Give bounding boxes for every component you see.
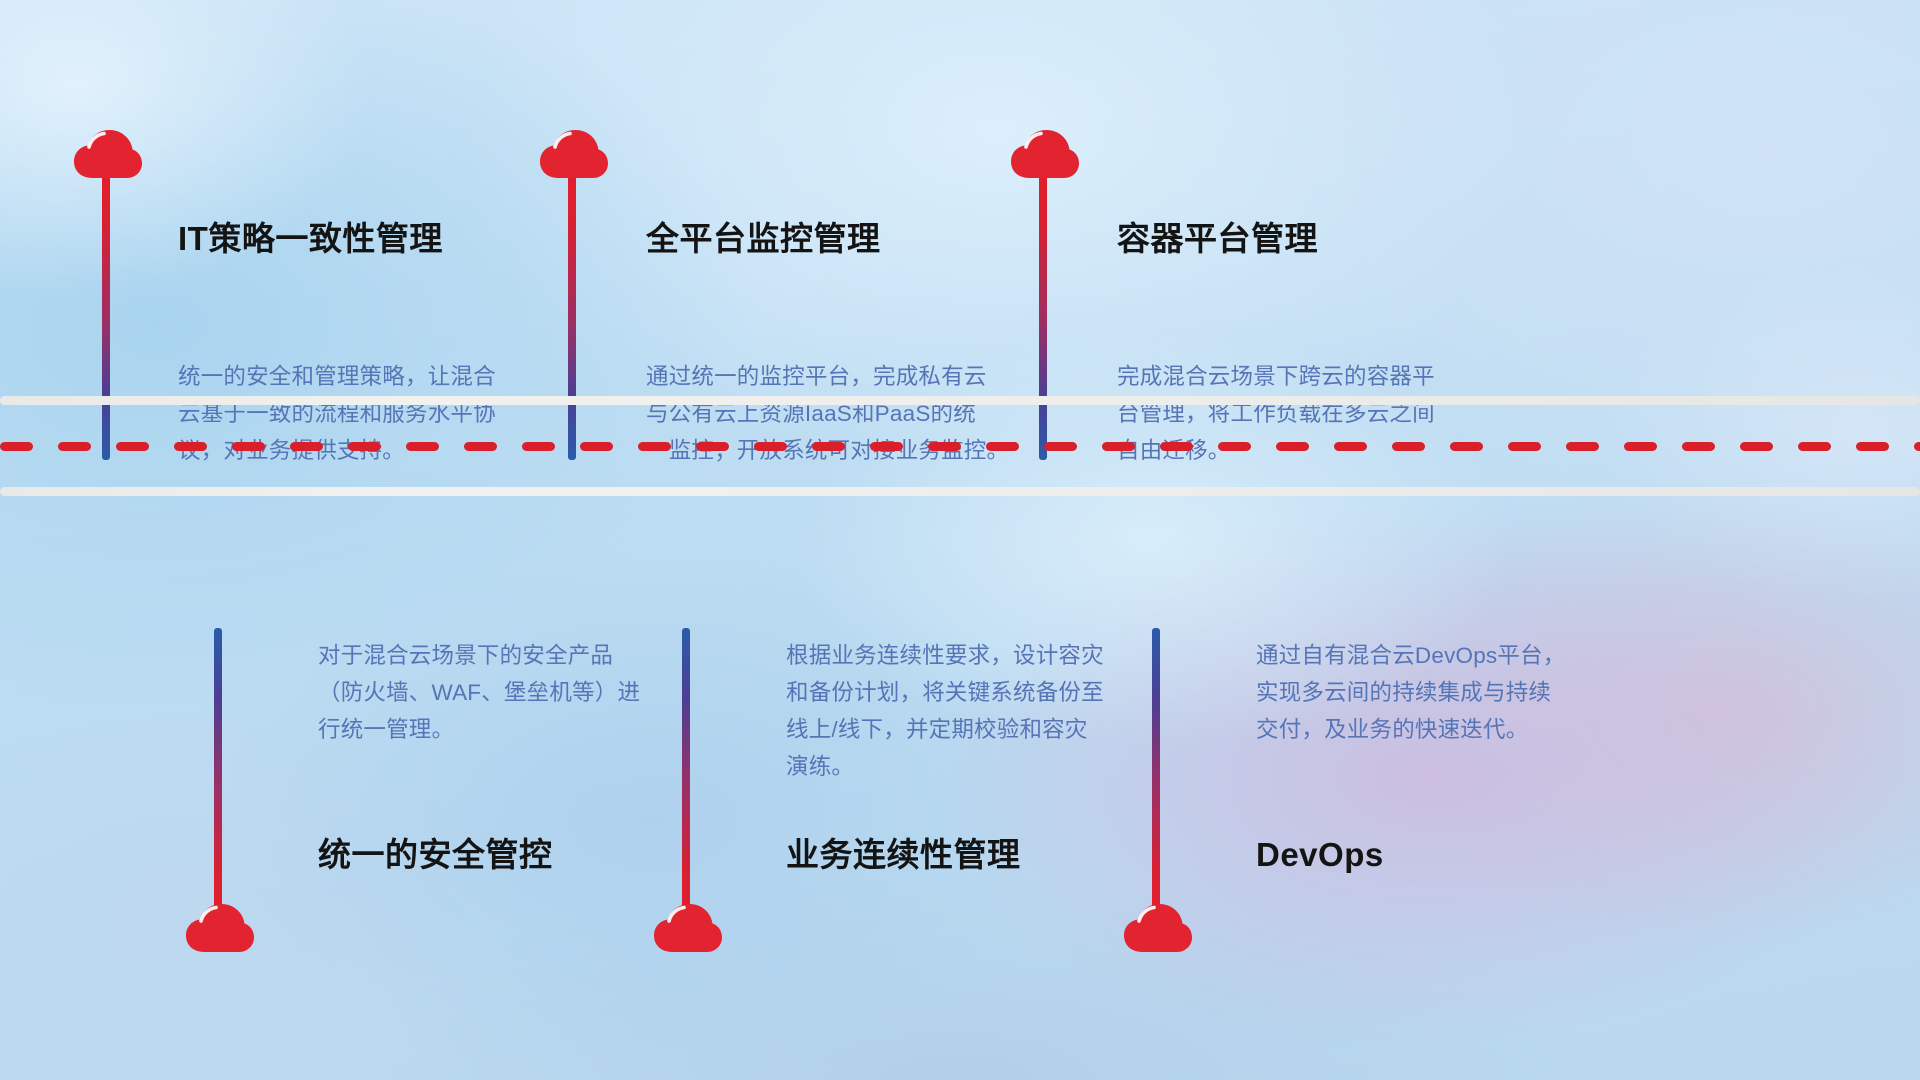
card-title-full-platform-monitoring: 全平台监控管理	[646, 222, 881, 255]
road-dash-segment	[1566, 442, 1599, 451]
card-title-business-continuity-management: 业务连续性管理	[786, 838, 1021, 871]
road-dash-segment	[1624, 442, 1657, 451]
pin-marker-unified-security-control	[212, 628, 284, 958]
road-dash-segment	[116, 442, 149, 451]
road-dash-segment	[1276, 442, 1309, 451]
road-dash-segment	[1740, 442, 1773, 451]
pin-stem	[1152, 628, 1160, 918]
road-dash-segment	[290, 442, 323, 451]
road-dash-segment	[580, 442, 613, 451]
road-divider	[0, 396, 1920, 496]
card-title-unified-security-control: 统一的安全管控	[318, 838, 553, 871]
road-dash-segment	[1798, 442, 1831, 451]
card-title-container-platform-management: 容器平台管理	[1117, 222, 1318, 255]
road-dash-segment	[986, 442, 1019, 451]
pin-marker-business-continuity-management	[680, 628, 752, 958]
road-dash-segment	[638, 442, 671, 451]
infographic-canvas: IT策略一致性管理 统一的安全和管理策略，让混合 云基于一致的流程和服务水平协 …	[0, 0, 1920, 1080]
road-dash-segment	[232, 442, 265, 451]
road-dash-segment	[1508, 442, 1541, 451]
road-dash-segment	[406, 442, 439, 451]
road-dash-segment	[696, 442, 729, 451]
road-dash-segment	[58, 442, 91, 451]
cloud-icon	[184, 902, 256, 954]
card-body-devops: 通过自有混合云DevOps平台， 实现多云间的持续集成与持续 交付，及业务的快速…	[1256, 637, 1696, 748]
road-dash-segment	[1914, 442, 1920, 451]
road-dash-segment	[754, 442, 787, 451]
cloud-icon	[1009, 128, 1081, 180]
road-dash-segment	[1102, 442, 1135, 451]
road-dash-segment	[0, 442, 33, 451]
pin-marker-devops	[1150, 628, 1222, 958]
road-dash-segment	[174, 442, 207, 451]
road-dash-segment	[928, 442, 961, 451]
cloud-icon	[72, 128, 144, 180]
road-dash-segment	[1856, 442, 1889, 451]
road-dash-segment	[812, 442, 845, 451]
cloud-icon	[652, 902, 724, 954]
road-dash-segment	[1160, 442, 1193, 451]
road-edge-top	[0, 396, 1920, 405]
road-dash-segment	[1392, 442, 1425, 451]
pin-stem	[682, 628, 690, 918]
cloud-icon	[538, 128, 610, 180]
card-title-it-policy-consistency: IT策略一致性管理	[178, 222, 443, 255]
road-dash-segment	[870, 442, 903, 451]
road-dash-segment	[1334, 442, 1367, 451]
road-dash-segment	[464, 442, 497, 451]
road-dash-segment	[1218, 442, 1251, 451]
road-dash-segment	[348, 442, 381, 451]
card-title-devops: DevOps	[1256, 838, 1384, 871]
road-dash-segment	[1044, 442, 1077, 451]
background-gradient-highlight	[0, 0, 1920, 1080]
road-dash-segment	[1450, 442, 1483, 451]
cloud-icon	[1122, 902, 1194, 954]
road-dash-segment	[1682, 442, 1715, 451]
road-center-dashed-line	[0, 442, 1920, 451]
pin-stem	[214, 628, 222, 918]
road-dash-segment	[522, 442, 555, 451]
road-edge-bottom	[0, 487, 1920, 496]
